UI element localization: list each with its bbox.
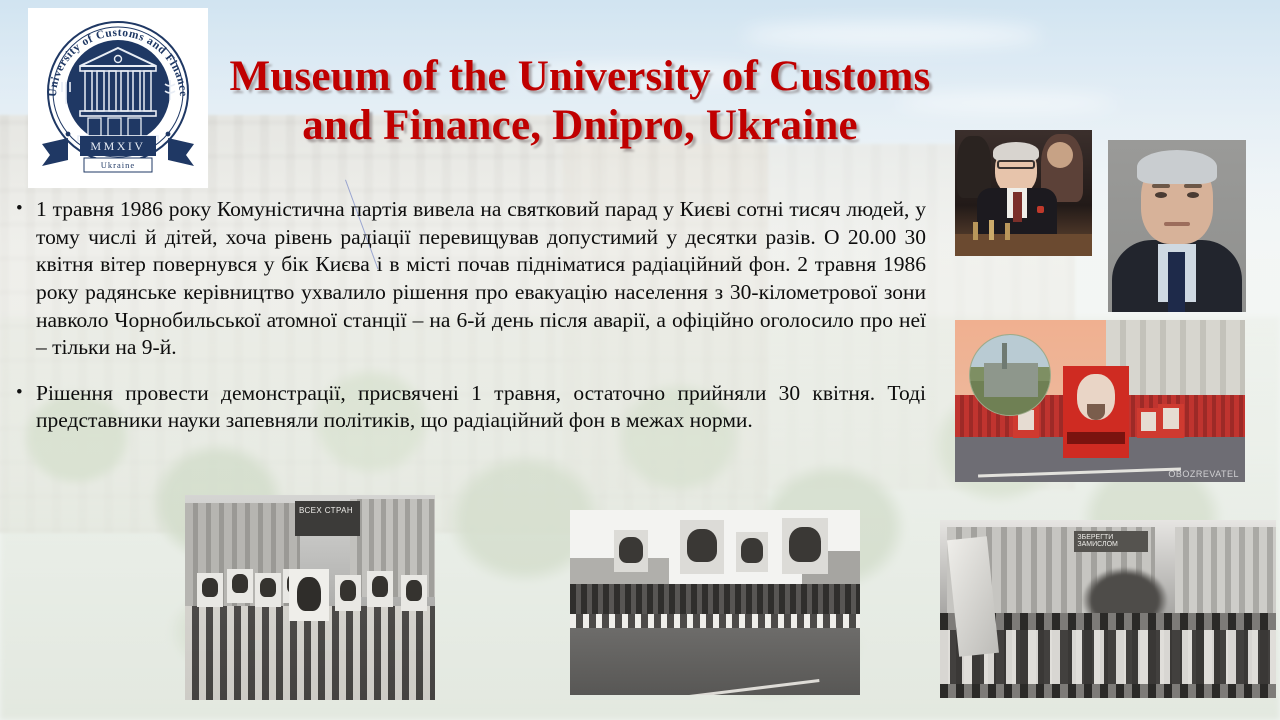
bullet-item: • 1 травня 1986 року Комуністична партія… (14, 196, 926, 362)
bullet-paragraph: Рішення провести демонстрації, присвячен… (36, 380, 926, 435)
seal-icon: University of Customs and Finance (32, 12, 204, 184)
slide-title-line-2: and Finance, Dnipro, Ukraine (205, 101, 955, 150)
slide-body-text: • 1 травня 1986 року Комуністична партія… (14, 196, 926, 453)
photo-bw-children-marching (570, 510, 860, 695)
presentation-slide: University of Customs and Finance (0, 0, 1280, 720)
photo-watermark: OBOZREVATEL (1168, 469, 1239, 479)
chernobyl-reactor-inset (969, 334, 1051, 416)
photo-gorbachev-speech (955, 130, 1092, 256)
university-logo: University of Customs and Finance (28, 8, 208, 188)
karl-marx-portrait (289, 569, 329, 621)
photo-bw-parade-portraits-marx: ВСЕХ СТРАН (185, 495, 435, 700)
seal-year-text: MMXIV (90, 139, 145, 153)
slide-title-line-1: Museum of the University of Customs (205, 52, 955, 101)
photo-bw-crowd-flowers: ЗБЕРЕГТИ ЗАМИСЛОМ (940, 520, 1276, 698)
slide-title: Museum of the University of Customs and … (205, 52, 955, 150)
bullet-marker: • (14, 196, 36, 222)
photo-parade-lenin-chernobyl-inset: OBOZREVATEL (955, 320, 1245, 482)
bullet-item: • Рішення провести демонстрації, присвяч… (14, 380, 926, 435)
bullet-marker: • (14, 380, 36, 406)
bullet-paragraph: 1 травня 1986 року Комуністична партія в… (36, 196, 926, 362)
street-banner-text: ЗБЕРЕГТИ ЗАМИСЛОМ (1077, 534, 1148, 548)
seal-country-text: Ukraine (101, 160, 135, 170)
street-banner: ЗБЕРЕГТИ ЗАМИСЛОМ (1074, 531, 1148, 552)
photo-soviet-official-portrait (1108, 140, 1246, 312)
parade-banner: ВСЕХ СТРАН (295, 501, 360, 536)
parade-banner-text: ВСЕХ СТРАН (299, 506, 353, 515)
